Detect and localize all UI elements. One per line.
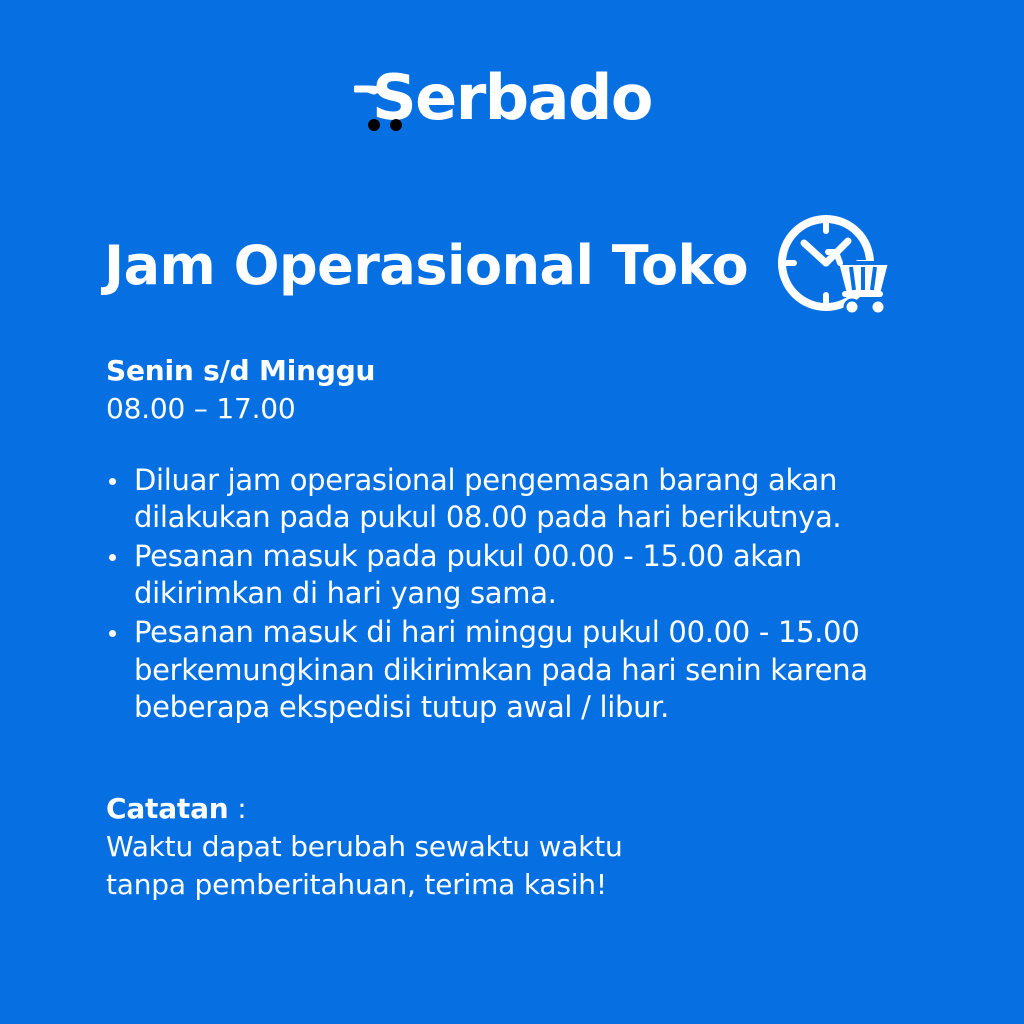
poster-canvas: Serbado Jam Operasional Toko [0,0,1024,1024]
page-title: Jam Operasional Toko [104,238,748,295]
brand-logo: Serbado [0,58,1024,138]
operating-hours-range: 08.00 – 17.00 [106,390,375,428]
operating-hours: Senin s/d Minggu 08.00 – 17.00 [106,352,375,427]
list-item: Pesanan masuk pada pukul 00.00 - 15.00 a… [106,538,896,612]
clock-cart-icon [774,210,896,322]
catatan-separator: : [229,792,247,825]
operating-hours-days: Senin s/d Minggu [106,352,375,390]
catatan-line: tanpa pemberitahuan, terima kasih! [106,866,866,904]
page-title-row: Jam Operasional Toko [104,210,944,322]
catatan-line: Waktu dapat berubah sewaktu waktu [106,828,866,866]
brand-mark: Serbado [372,59,652,137]
brand-name: Serbado [372,59,652,137]
catatan-heading: Catatan : [106,790,866,828]
catatan-label: Catatan [106,792,229,825]
list-item: Pesanan masuk di hari minggu pukul 00.00… [106,614,896,725]
catatan-block: Catatan : Waktu dapat berubah sewaktu wa… [106,790,866,904]
list-item: Diluar jam operasional pengemasan barang… [106,462,896,536]
notes-list: Diluar jam operasional pengemasan barang… [106,462,896,728]
